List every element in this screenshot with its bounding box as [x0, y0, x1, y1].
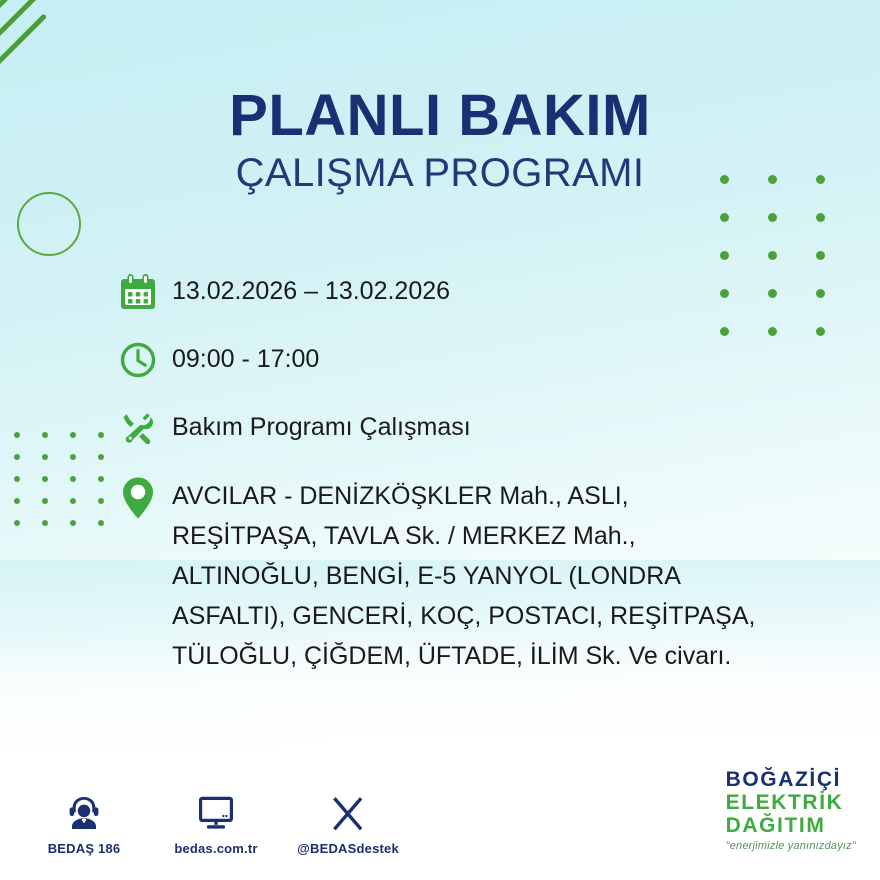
x-social-icon [327, 790, 369, 834]
location-line: ASFALTI), GENCERİ, KOÇ, POSTACI, REŞİTPA… [172, 596, 755, 636]
contact-label: @BEDASdestek [297, 841, 399, 856]
dot-grid-left-decoration [14, 432, 126, 542]
time-range-text: 09:00 - 17:00 [172, 336, 319, 372]
poster-header: PLANLI BAKIM ÇALIŞMA PROGRAMI [0, 86, 880, 194]
location-line: AVCILAR - DENİZKÖŞKLER Mah., ASLI, [172, 476, 755, 516]
monitor-icon [195, 790, 237, 834]
location-line: ALTINOĞLU, BENGİ, E-5 YANYOL (LONDRA [172, 556, 755, 596]
clock-icon [118, 336, 172, 384]
info-row-location: AVCILAR - DENİZKÖŞKLER Mah., ASLI, REŞİT… [118, 472, 818, 676]
contact-website[interactable]: bedas.com.tr [168, 790, 264, 856]
tools-icon [118, 404, 172, 452]
call-center-icon [63, 790, 105, 834]
brand-line-elektrik: ELEKTRİK [726, 792, 856, 813]
contact-label: BEDAŞ 186 [48, 841, 121, 856]
contact-x-social[interactable]: @BEDASdestek [300, 790, 396, 856]
brand-line-bogazici: BOĞAZİÇİ [726, 769, 856, 790]
date-range-text: 13.02.2026 – 13.02.2026 [172, 268, 450, 304]
circle-ring-decoration [17, 192, 81, 256]
company-logo: BOĞAZİÇİ ELEKTRİK DAĞITIM "enerjimizle y… [726, 769, 856, 852]
brand-line-dagitim: DAĞITIM [726, 815, 856, 836]
calendar-icon [118, 268, 172, 316]
work-type-text: Bakım Programı Çalışması [172, 404, 471, 440]
poster-footer: BEDAŞ 186 bedas.com.tr [0, 762, 880, 862]
info-list: 13.02.2026 – 13.02.2026 09:00 - 17:00 [118, 268, 818, 676]
page-subtitle: ÇALIŞMA PROGRAMI [0, 152, 880, 194]
map-pin-icon [118, 472, 172, 524]
contact-list: BEDAŞ 186 bedas.com.tr [36, 790, 396, 856]
location-line: REŞİTPAŞA, TAVLA Sk. / MERKEZ Mah., [172, 516, 755, 556]
page-title: PLANLI BAKIM [0, 86, 880, 146]
location-line: TÜLOĞLU, ÇİĞDEM, ÜFTADE, İLİM Sk. Ve civ… [172, 636, 755, 676]
info-row-work-type: Bakım Programı Çalışması [118, 404, 818, 452]
info-row-date: 13.02.2026 – 13.02.2026 [118, 268, 818, 316]
location-text: AVCILAR - DENİZKÖŞKLER Mah., ASLI, REŞİT… [172, 472, 755, 676]
poster-canvas: PLANLI BAKIM ÇALIŞMA PROGRAMI [0, 0, 880, 880]
contact-label: bedas.com.tr [174, 841, 257, 856]
brand-tagline: "enerjimizle yanınızdayız" [726, 841, 856, 852]
contact-call-center[interactable]: BEDAŞ 186 [36, 790, 132, 856]
info-row-time: 09:00 - 17:00 [118, 336, 818, 384]
